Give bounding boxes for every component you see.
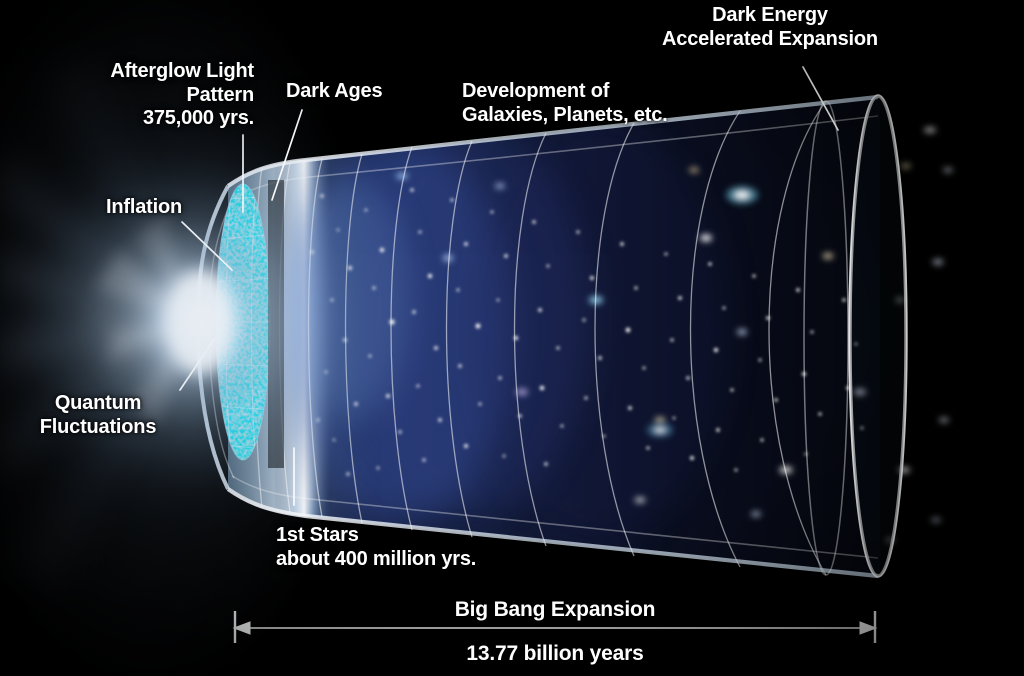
expansion-funnel — [198, 96, 953, 576]
starfield — [276, 120, 866, 540]
leader-quantum — [180, 338, 215, 390]
label-quantum-fluctuations: Quantum Fluctuations — [0, 392, 196, 439]
leader-dark-energy — [803, 67, 838, 130]
leader-lines — [180, 67, 838, 505]
label-big-bang-expansion: Big Bang Expansion — [234, 598, 876, 623]
light-rays — [0, 55, 188, 600]
leader-inflation — [182, 222, 232, 270]
cone-right-mouth — [850, 96, 906, 576]
big-bang-glow — [0, 107, 420, 537]
label-dark-ages: Dark Ages — [286, 80, 382, 104]
outer-galaxies — [885, 127, 953, 542]
expansion-grid-rings — [255, 101, 827, 575]
label-inflation: Inflation — [0, 196, 182, 220]
cmb-afterglow-disc — [214, 180, 274, 466]
label-afterglow-light-pattern: Afterglow Light Pattern 375,000 yrs. — [0, 60, 254, 131]
universe-timeline-figure: Afterglow Light Pattern 375,000 yrs. Inf… — [0, 0, 1024, 676]
leader-dark-ages — [272, 110, 302, 200]
label-dark-energy: Dark Energy Accelerated Expansion — [620, 4, 920, 51]
label-universe-age: 13.77 billion years — [234, 642, 876, 667]
label-first-stars: 1st Stars about 400 million yrs. — [276, 524, 476, 571]
label-development-of-galaxies: Development of Galaxies, Planets, etc. — [462, 80, 668, 127]
cone-left-cap — [198, 186, 228, 489]
